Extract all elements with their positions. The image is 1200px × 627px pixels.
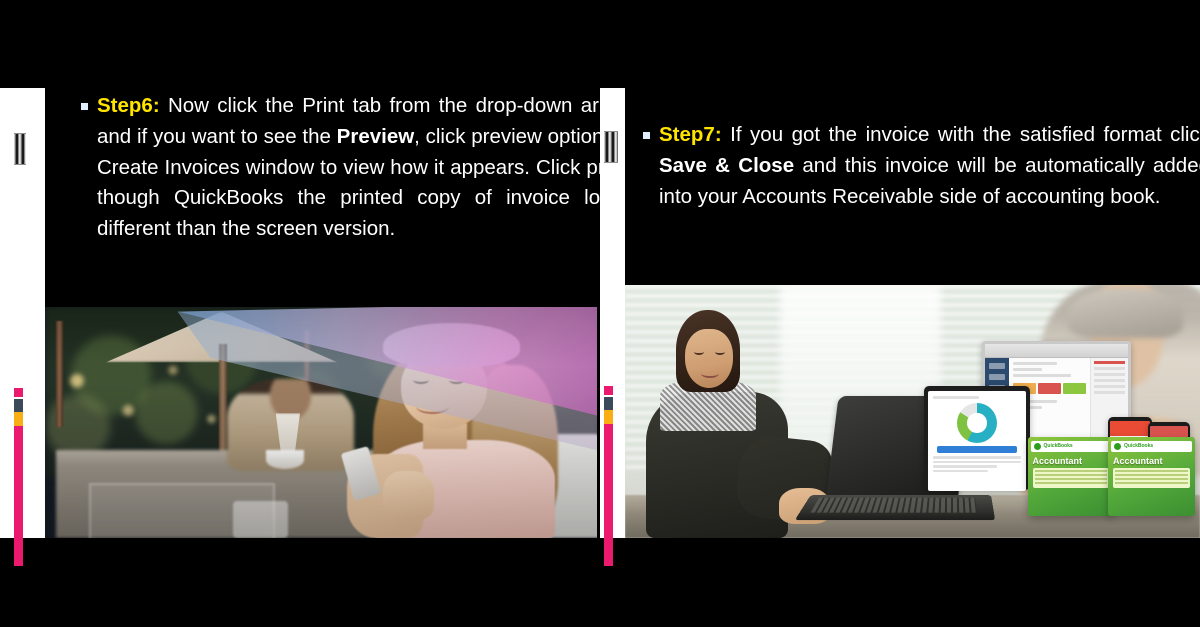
slide-stage: Step6: Now click the Print tab from the … (0, 0, 1200, 627)
cafe-scene (45, 307, 597, 538)
drag-handle-icon[interactable] (604, 131, 618, 163)
marker-pink-long (14, 426, 23, 566)
laptop-keyboard (810, 498, 976, 513)
quickbooks-logo: QuickBooks (1111, 441, 1192, 452)
square-bullet-icon (643, 132, 650, 139)
browser-chrome-bar (985, 344, 1129, 359)
marker-teal (14, 399, 23, 412)
quickbooks-wordmark: QuickBooks (1124, 444, 1153, 449)
left-bullet-row: Step6: Now click the Print tab from the … (81, 91, 632, 245)
marker-pink-small (604, 386, 613, 395)
marker-pink-small (14, 388, 23, 397)
accountant-box-title: Accountant (1033, 456, 1110, 466)
background-man-hair (1068, 288, 1183, 339)
right-content-panel: Step7: If you got the invoice with the s… (625, 0, 1200, 285)
marker-orange (14, 412, 23, 426)
left-color-marker-bar (14, 388, 23, 566)
center-color-marker-bar (604, 386, 613, 566)
quickbooks-wordmark: QuickBooks (1044, 444, 1073, 449)
office-scene: QuickBooks Accountant QuickBooks Account… (625, 285, 1200, 538)
marker-pink-long (604, 424, 613, 566)
tablet-screen (928, 391, 1026, 491)
left-content-panel: Step6: Now click the Print tab from the … (45, 0, 597, 307)
accountant-box-features (1033, 468, 1110, 488)
right-photo: QuickBooks Accountant QuickBooks Account… (625, 285, 1200, 538)
quickbooks-dot-icon (1114, 443, 1121, 450)
accountant-product-box-2: QuickBooks Accountant (1108, 437, 1195, 516)
tablet-cta-button (937, 446, 1017, 453)
left-step-label: Step6: (97, 94, 160, 117)
right-bold-phrase: Save & Close (659, 154, 794, 177)
right-text-before-bold: If you got the invoice with the satisfie… (722, 123, 1200, 146)
accountant-product-box-1: QuickBooks Accountant (1028, 437, 1115, 516)
right-text-block: Step7: If you got the invoice with the s… (643, 120, 1200, 212)
right-bullet-row: Step7: If you got the invoice with the s… (643, 120, 1200, 212)
right-paragraph: Step7: If you got the invoice with the s… (659, 120, 1200, 212)
marker-orange (604, 410, 613, 424)
accountant-box-features (1113, 468, 1190, 488)
right-step-label: Step7: (659, 123, 722, 146)
drag-handle-icon[interactable] (14, 133, 26, 165)
quickbooks-dot-icon (1034, 443, 1041, 450)
donut-chart (957, 403, 997, 443)
quickbooks-logo: QuickBooks (1031, 441, 1112, 452)
square-bullet-icon (81, 103, 88, 110)
left-text-block: Step6: Now click the Print tab from the … (81, 91, 632, 245)
left-bold-phrase: Preview (337, 125, 415, 148)
left-photo (45, 307, 597, 538)
accountant-box-title: Accountant (1113, 456, 1190, 466)
woman-eye-right (715, 349, 725, 355)
marker-teal (604, 397, 613, 410)
tablet-mockup (924, 386, 1030, 490)
photo-vignette (45, 307, 597, 538)
woman-face (685, 329, 733, 388)
left-paragraph: Step6: Now click the Print tab from the … (97, 91, 632, 245)
bottom-letterbox (0, 538, 1200, 627)
